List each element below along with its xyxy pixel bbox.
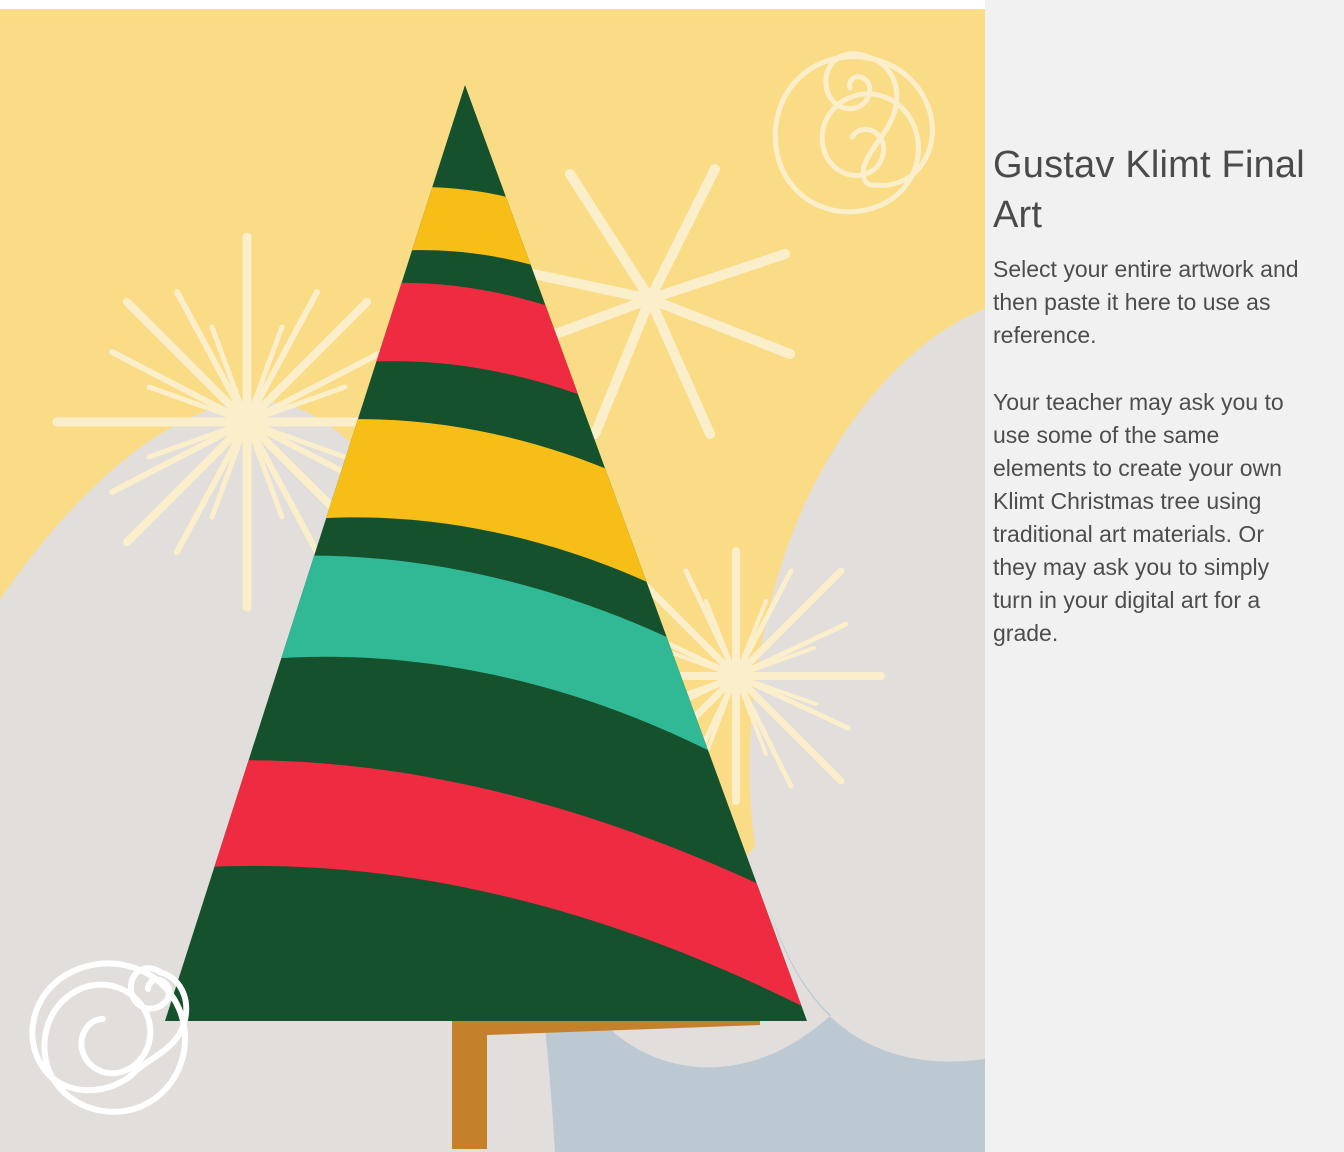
canvas-top-gap [0,0,985,9]
app-root: Gustav Klimt Final Art Select your entir… [0,0,1344,1152]
tree-trunk [452,1014,487,1149]
info-panel: Gustav Klimt Final Art Select your entir… [985,0,1344,1152]
instructions-paragraph-2: Your teacher may ask you to use some of … [993,386,1305,650]
artwork-canvas[interactable] [0,9,985,1152]
instructions-paragraph-1: Select your entire artwork and then past… [993,253,1305,352]
page-title: Gustav Klimt Final Art [993,140,1323,240]
artwork-illustration [0,9,985,1152]
